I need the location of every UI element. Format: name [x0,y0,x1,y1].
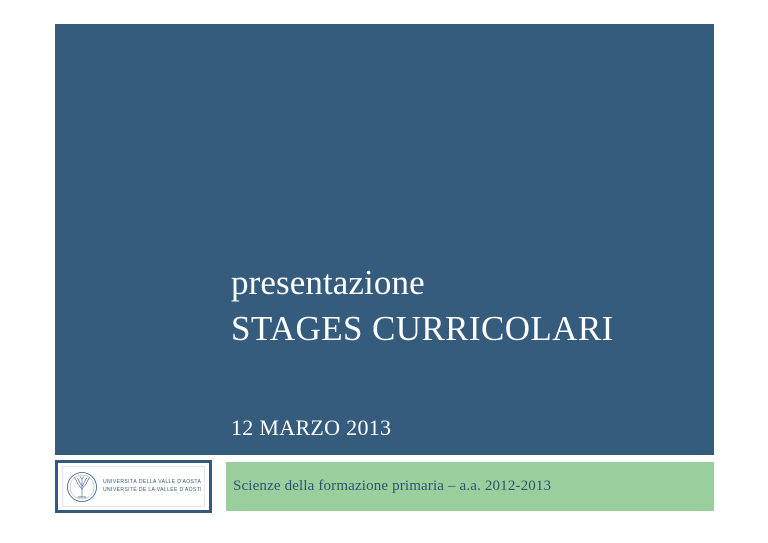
logo-inner-frame: UNIVERSITÀ DELLA VALLE D'AOSTA UNIVERSIT… [62,466,205,507]
title-block: presentazione STAGES CURRICOLARI [231,260,701,353]
logo-name-french: UNIVERSITÉ DE LA VALLÉE D'AOSTE [103,487,201,495]
page-title-line-2: STAGES CURRICOLARI [231,305,701,353]
presentation-date: 12 MARZO 2013 [231,413,391,443]
presentation-slide: presentazione STAGES CURRICOLARI 12 MARZ… [0,0,768,543]
university-logo: UNIVERSITÀ DELLA VALLE D'AOSTA UNIVERSIT… [55,460,212,513]
logo-name-italian: UNIVERSITÀ DELLA VALLE D'AOSTA [103,479,201,487]
logo-name-block: UNIVERSITÀ DELLA VALLE D'AOSTA UNIVERSIT… [103,479,201,494]
footer-bar: Scienze della formazione primaria – a.a.… [226,462,714,511]
page-title-line-1: presentazione [231,260,701,305]
title-panel: presentazione STAGES CURRICOLARI 12 MARZ… [55,24,714,455]
footer-course-label: Scienze della formazione primaria – a.a.… [226,478,551,495]
tree-seal-icon [66,471,98,503]
